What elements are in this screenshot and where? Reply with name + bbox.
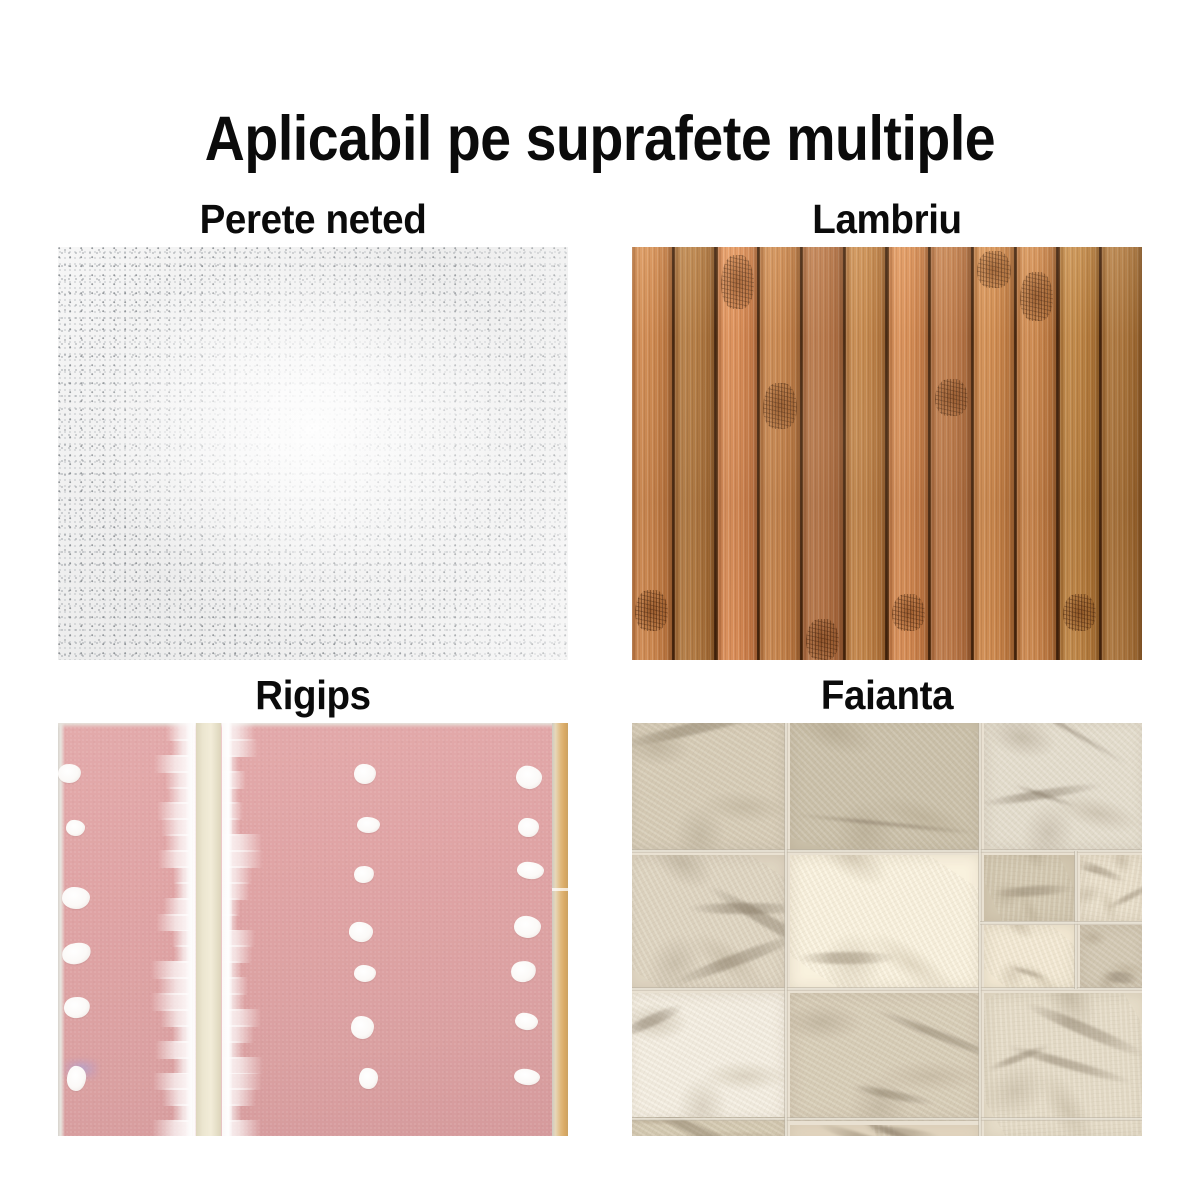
sample-label-rigips: Rigips [73, 672, 552, 718]
page-title: Aplicabil pe suprafete multiple [72, 103, 1128, 175]
joint-compound-band [220, 723, 232, 1136]
grout-line-vertical [784, 989, 788, 1136]
sample-label-perete-neted: Perete neted [73, 196, 552, 242]
grout-line-vertical [978, 989, 982, 1136]
tile-piece [984, 993, 1142, 1136]
tile-piece [790, 1125, 980, 1136]
sample-label-lambriu: Lambriu [647, 196, 1126, 242]
stone-grain [984, 925, 1076, 989]
tile-piece [632, 993, 786, 1121]
tile-piece [984, 723, 1142, 851]
stone-grain [790, 855, 980, 989]
sample-card-rigips: Rigips [58, 672, 568, 1136]
tile-piece [984, 925, 1076, 989]
sample-photo-lambriu [632, 247, 1142, 660]
sample-card-faianta: Faianta [632, 672, 1142, 1136]
bamboo-shading-overlay [632, 247, 1142, 660]
sample-photo-rigips [58, 723, 568, 1136]
tile-piece [1080, 855, 1142, 921]
drywall-top-edge [58, 723, 568, 728]
screw-spot-dab [357, 816, 380, 833]
drywall-noise-overlay [58, 723, 568, 1136]
sample-label-faianta: Faianta [647, 672, 1126, 718]
grout-line-vertical [978, 723, 982, 851]
grout-line-vertical [784, 851, 788, 989]
grout-line-horizontal [980, 921, 1142, 925]
screw-spot-dab [358, 1068, 377, 1090]
stud-seam-line [552, 888, 568, 891]
tile-piece [790, 723, 980, 851]
sample-photo-perete-neted [58, 247, 568, 660]
tile-piece [984, 855, 1076, 921]
grout-line-horizontal [632, 849, 1142, 853]
grout-line-vertical [1074, 851, 1078, 989]
sample-card-perete-neted: Perete neted [58, 196, 568, 660]
screw-spot-dab [354, 965, 377, 982]
grout-line-vertical [784, 723, 788, 851]
grout-line-vertical [978, 851, 982, 989]
grout-line-horizontal [632, 987, 1142, 991]
tile-piece [790, 855, 980, 989]
tile-piece [1080, 925, 1142, 989]
tile-piece [790, 993, 980, 1121]
wood-stud-strip [552, 723, 568, 1136]
tile-piece [632, 723, 786, 851]
screw-spot-dab [517, 818, 538, 837]
sample-photo-faianta [632, 723, 1142, 1136]
tile-piece [632, 855, 786, 989]
sample-card-lambriu: Lambriu [632, 196, 1142, 660]
drywall-joint-tape [196, 723, 221, 1136]
grout-line-horizontal [632, 1117, 1142, 1121]
screw-spot-dab [353, 763, 375, 784]
poster-canvas: Aplicabil pe suprafete multiple Perete n… [0, 0, 1200, 1200]
screw-spot-dab [65, 819, 84, 836]
wall-sheen-overlay [58, 247, 568, 660]
